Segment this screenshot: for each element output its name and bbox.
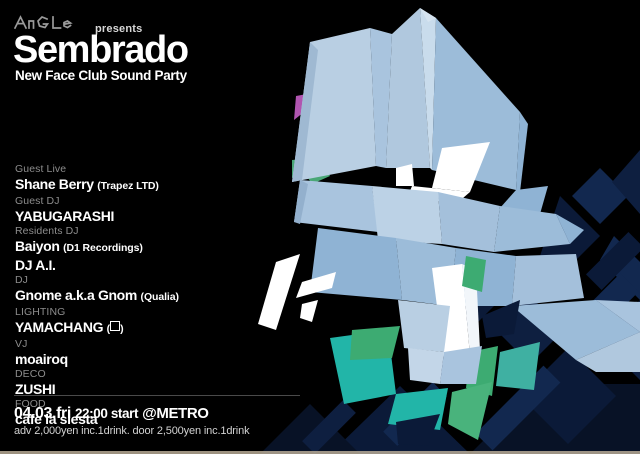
- lineup-act: YABUGARASHI: [15, 208, 245, 224]
- lineup-item: DJ A.I.: [15, 257, 245, 273]
- lineup-note: (Qualia): [141, 291, 179, 303]
- lineup-name: YABUGARASHI: [15, 208, 114, 224]
- footer-divider: [14, 395, 300, 396]
- lineup-note: (D1 Recordings): [63, 242, 143, 254]
- text-layer: presents Sembrado New Face Club Sound Pa…: [0, 0, 640, 454]
- lineup-act: moairoq: [15, 351, 245, 367]
- lineup-act: YAMACHANG (): [15, 319, 245, 337]
- page-title: Sembrado: [13, 31, 188, 69]
- lineup-role: Residents DJ: [15, 225, 245, 238]
- event-pricing: adv 2,000yen inc.1drink. door 2,500yen i…: [14, 425, 249, 437]
- event-venue: @METRO: [142, 405, 208, 422]
- lineup-note-glyph: (): [107, 323, 124, 335]
- lineup-item: LIGHTING YAMACHANG (): [15, 306, 245, 337]
- flyer-poster: presents Sembrado New Face Club Sound Pa…: [0, 0, 640, 454]
- lineup-item: Guest DJ YABUGARASHI: [15, 195, 245, 224]
- lineup-name: Gnome a.k.a Gnom: [15, 287, 137, 303]
- lineup-note: (Trapez LTD): [97, 180, 159, 192]
- page-subtitle: New Face Club Sound Party: [15, 68, 187, 83]
- lineup-name: Baiyon: [15, 238, 60, 254]
- lineup-name: moairoq: [15, 351, 68, 367]
- lineup-role: VJ: [15, 338, 245, 351]
- lineup-role: Guest DJ: [15, 195, 245, 208]
- lineup-item: Residents DJ Baiyon (D1 Recordings): [15, 225, 245, 256]
- lineup-role: Guest Live: [15, 163, 245, 176]
- lineup-item: VJ moairoq: [15, 338, 245, 367]
- lineup-name: Shane Berry: [15, 176, 94, 192]
- lineup-item: DJ Gnome a.k.a Gnom (Qualia): [15, 274, 245, 305]
- lineup-role: DECO: [15, 368, 245, 381]
- event-time: 22:00 start: [75, 406, 138, 421]
- lineup-role: DJ: [15, 274, 245, 287]
- lineup-item: Guest Live Shane Berry (Trapez LTD): [15, 163, 245, 194]
- lineup-name: YAMACHANG: [15, 319, 103, 335]
- lineup-list: Guest Live Shane Berry (Trapez LTD) Gues…: [15, 163, 245, 428]
- missing-glyph-icon: [110, 321, 120, 331]
- lineup-act: Baiyon (D1 Recordings): [15, 238, 245, 256]
- lineup-role: LIGHTING: [15, 306, 245, 319]
- lineup-item: DECO ZUSHI: [15, 368, 245, 397]
- lineup-act: Shane Berry (Trapez LTD): [15, 176, 245, 194]
- lineup-act: Gnome a.k.a Gnom (Qualia): [15, 287, 245, 305]
- event-details: 04.03.fri 22:00 start @METRO: [14, 405, 209, 423]
- lineup-name: DJ A.I.: [15, 257, 56, 273]
- lineup-act: DJ A.I.: [15, 257, 245, 273]
- event-date: 04.03.fri: [14, 405, 71, 422]
